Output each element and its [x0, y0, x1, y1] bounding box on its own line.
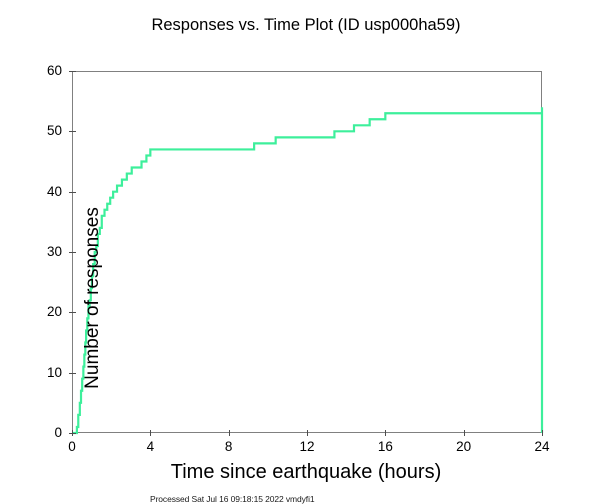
x-tick-label: 8	[204, 439, 254, 454]
x-tick-label: 12	[282, 439, 332, 454]
x-tick-label: 16	[360, 439, 410, 454]
y-tick-label: 0	[12, 425, 62, 440]
y-tick-label: 10	[12, 365, 62, 380]
x-tick-mark	[150, 430, 151, 436]
y-tick-label: 50	[12, 123, 62, 138]
y-axis-title: Number of responses	[82, 117, 104, 479]
y-tick-mark	[69, 252, 76, 253]
x-tick-mark	[307, 430, 308, 436]
x-tick-label: 24	[517, 439, 567, 454]
y-tick-mark	[69, 131, 76, 132]
chart-title: Responses vs. Time Plot (ID usp000ha59)	[0, 16, 612, 35]
y-tick-label: 40	[12, 184, 62, 199]
plot-area: Processed Sat Jul 16 09:18:15 2022 vmdyf…	[72, 71, 542, 433]
x-tick-mark	[464, 430, 465, 436]
response-step-curve	[72, 71, 542, 433]
y-tick-label: 20	[12, 304, 62, 319]
series-polyline-cumulative-responses	[72, 107, 542, 433]
y-tick-mark	[69, 373, 76, 374]
x-tick-mark	[72, 430, 73, 436]
chart-figure: Responses vs. Time Plot (ID usp000ha59) …	[0, 0, 612, 504]
x-tick-label: 0	[47, 439, 97, 454]
x-tick-mark	[542, 430, 543, 436]
x-axis-title: Time since earthquake (hours)	[0, 461, 612, 484]
x-tick-mark	[229, 430, 230, 436]
processed-timestamp-annotation: Processed Sat Jul 16 09:18:15 2022 vmdyf…	[150, 494, 315, 504]
x-tick-label: 20	[439, 439, 489, 454]
y-tick-mark	[69, 312, 76, 313]
x-tick-label: 4	[125, 439, 175, 454]
y-tick-label: 30	[12, 244, 62, 259]
x-tick-mark	[385, 430, 386, 436]
y-tick-mark	[69, 71, 76, 72]
y-tick-mark	[69, 192, 76, 193]
y-tick-label: 60	[12, 63, 62, 78]
